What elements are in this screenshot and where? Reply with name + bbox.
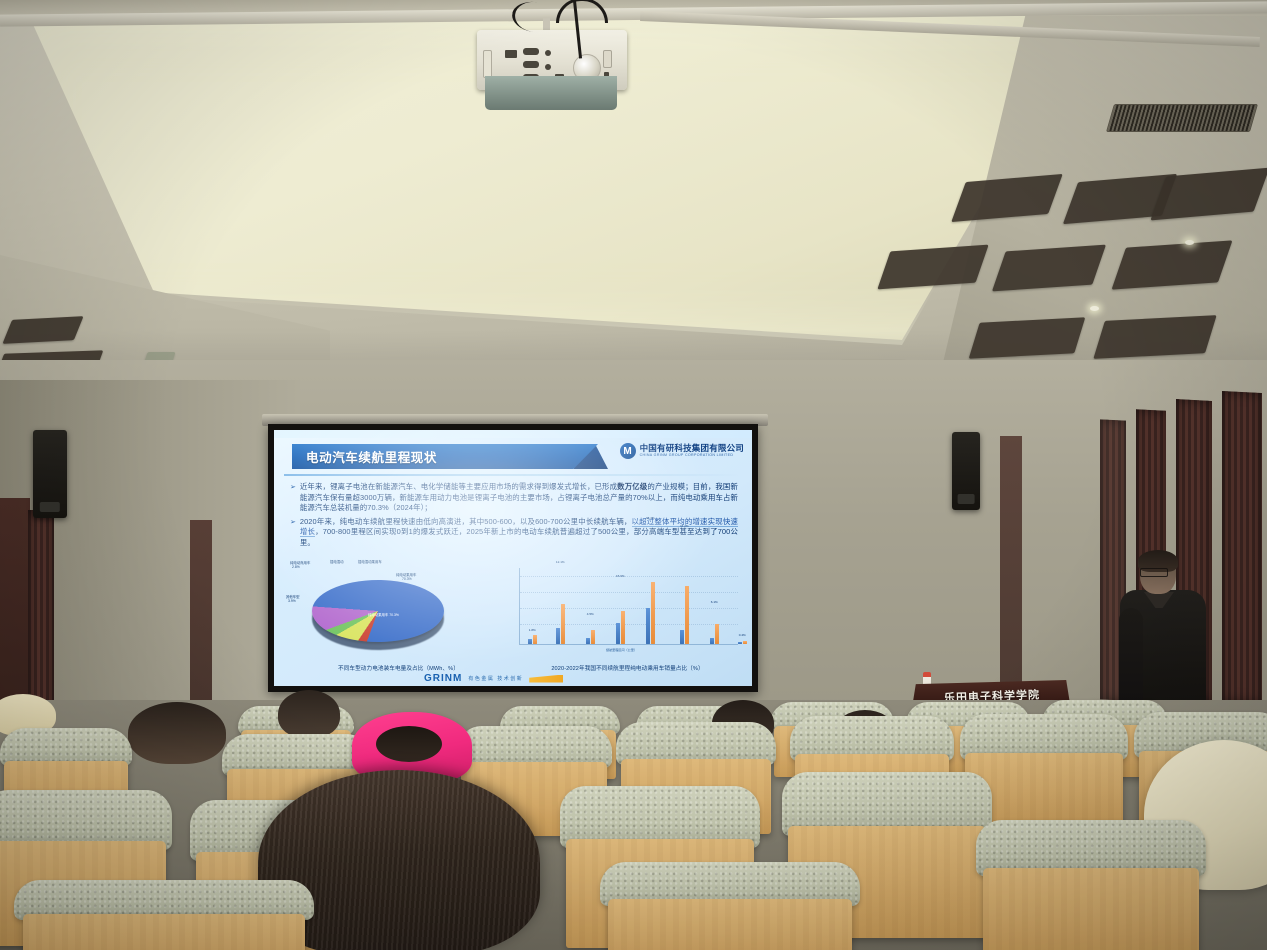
bar-group: 12.1% <box>556 604 565 644</box>
ceiling-acoustic-tile <box>1112 240 1233 289</box>
ceiling-downlight <box>1185 240 1194 245</box>
bullet-item: ➢ 2020年来，纯电动车续航里程快速由低向高演进，其中500-600，以及60… <box>290 517 738 549</box>
seat-back-panel <box>23 914 305 950</box>
bar-series-1 <box>738 642 742 644</box>
bar-series-2 <box>685 586 689 644</box>
bar-series-2 <box>591 630 595 644</box>
ceiling-acoustic-tile <box>2 316 83 344</box>
pie-legend-label: 2.8% <box>292 565 300 569</box>
wall-speaker <box>33 430 67 518</box>
bar-group: 1.8% <box>528 635 537 644</box>
company-name-cn: 中国有研科技集团有限公司 <box>640 444 744 453</box>
bullet-text-part: 近年来，锂离子电池在新能源汽车、电化学储能等主要应用市场的需求得到爆发式增长，已… <box>300 482 617 491</box>
bar-group: 0.4% <box>738 641 747 644</box>
bullet-item: ➢ 近年来，锂离子电池在新能源汽车、电化学储能等主要应用市场的需求得到爆发式增长… <box>290 482 738 514</box>
bullet-text-part: ，700-800里程区间实现0到1的爆发式跃迁，2025年新上市的电动车续航普遍… <box>300 527 738 547</box>
wall-acoustic-slat-panel <box>1222 391 1262 703</box>
bar-series-2 <box>715 624 719 644</box>
lecture-hall-photo: 电动汽车续航里程现状 M 中国有研科技集团有限公司 CHINA GRINM GR… <box>0 0 1267 950</box>
ceiling-acoustic-tile <box>877 245 988 290</box>
wall-wood-panel <box>190 520 212 700</box>
bar-series-1 <box>680 630 684 644</box>
presenter-glasses <box>1140 568 1168 577</box>
wall-acoustic-slat-panel <box>28 510 54 715</box>
gridline <box>520 592 738 593</box>
projector-port <box>505 50 517 58</box>
slide-title: 电动汽车续航里程现状 <box>306 447 437 466</box>
title-divider <box>284 474 742 476</box>
gridline <box>520 624 738 625</box>
bar-series-1 <box>646 608 650 644</box>
bar-series-1 <box>616 623 620 644</box>
ceiling-acoustic-tile <box>969 317 1086 358</box>
bullet-text-part: 2020年来，纯电动车续航里程快速由低向高演进，其中500-600，以及600-… <box>300 517 632 526</box>
bar-value-label: 6.1% <box>711 600 718 604</box>
audience-head <box>128 702 226 764</box>
pie-chart: 纯电动商用车 2.8% 插电混动 插电混动乘用车 纯电动乘用车 70.3% 其他… <box>284 558 513 658</box>
seat-back-panel <box>608 899 852 950</box>
footer-tagline: 有色金属 技术创新 <box>468 675 523 682</box>
company-logo: M 中国有研科技集团有限公司 CHINA GRINM GROUP CORPORA… <box>620 443 744 459</box>
projector-port <box>523 48 539 55</box>
seat-back-panel <box>983 868 1199 950</box>
bar-series-2 <box>743 641 747 644</box>
projector-lens-housing <box>485 76 617 110</box>
bar-group: 15.6% <box>616 611 625 644</box>
bar-series-1 <box>586 638 590 644</box>
bar-chart-plot: 1.8% 12.1% 4.5% 15.6 <box>519 568 738 645</box>
bar-group: 44.2% <box>680 586 689 644</box>
bullet-marker: ➢ <box>290 482 296 514</box>
seat <box>976 820 1206 950</box>
bar-series-1 <box>710 638 714 644</box>
bar-series-2 <box>651 582 655 644</box>
projector-port <box>483 50 492 78</box>
air-vent-grille <box>1106 104 1258 132</box>
pie-legend-label: 插电混动 <box>330 559 344 564</box>
presentation-slide: 电动汽车续航里程现状 M 中国有研科技集团有限公司 CHINA GRINM GR… <box>274 430 752 686</box>
bar-value-label: 0.4% <box>739 633 746 637</box>
bullet-marker: ➢ <box>290 517 296 549</box>
ceiling-acoustic-tile <box>1093 315 1216 359</box>
wall-wood-panel <box>1000 436 1022 686</box>
bar-series-1 <box>556 628 560 644</box>
bar-series-2 <box>533 635 537 644</box>
slide-charts: 纯电动商用车 2.8% 插电混动 插电混动乘用车 纯电动乘用车 70.3% 其他… <box>284 558 742 658</box>
bar-value-label: 12.1% <box>556 560 565 564</box>
wall-speaker <box>952 432 980 510</box>
slide-title-ribbon: 电动汽车续航里程现状 <box>292 444 598 469</box>
projector-port <box>545 64 551 70</box>
bar-value-label: 44.2% <box>680 524 689 528</box>
bar-group: 6.1% <box>710 624 719 644</box>
bar-series-2 <box>621 611 625 644</box>
pie-slice-label: 纯电动乘用车 70.3% <box>368 612 399 617</box>
slide-top-band <box>274 430 752 438</box>
bar-value-label: 1.8% <box>529 628 536 632</box>
ceiling-downlight <box>1090 306 1099 311</box>
projector-port <box>523 61 539 68</box>
audience-pink-hood-opening <box>376 726 442 762</box>
company-name-en: CHINA GRINM GROUP CORPORATION LIMITED <box>640 454 744 458</box>
bar-group: 38.4% <box>646 582 655 644</box>
bar-value-label: 4.5% <box>587 612 594 616</box>
pie-slices <box>312 580 444 642</box>
audience-head <box>278 690 340 738</box>
bullet-text-emph: 数万亿级 <box>617 482 647 491</box>
bar-axis-title: 续航里程区间（公里） <box>606 647 637 652</box>
pie-graphic: 纯电动乘用车 70.3% <box>312 574 444 652</box>
gridline <box>520 608 738 609</box>
ceiling-acoustic-tile <box>992 245 1106 292</box>
bar-series-1 <box>528 639 532 644</box>
bullet-text: 近年来，锂离子电池在新能源汽车、电化学储能等主要应用市场的需求得到爆发式增长，已… <box>300 482 738 514</box>
pie-legend-label: 3.9% <box>288 599 296 603</box>
bar-group: 4.5% <box>586 630 595 644</box>
slide-bullet-list: ➢ 近年来，锂离子电池在新能源汽车、电化学储能等主要应用市场的需求得到爆发式增长… <box>290 482 738 552</box>
pie-legend-label: 插电混动乘用车 <box>358 559 382 564</box>
gridline <box>520 576 738 577</box>
seat <box>600 862 860 950</box>
projector-port <box>603 50 612 68</box>
footer-swoosh-graphic <box>529 675 563 683</box>
grinm-wordmark: GRINM <box>424 673 462 684</box>
grinm-logo-mark: M <box>620 443 636 459</box>
bar-value-label: 15.6% <box>616 574 625 578</box>
bar-series-2 <box>561 604 565 644</box>
slide-footer-logo: GRINM 有色金属 技术创新 <box>424 673 563 684</box>
ceiling-projector <box>477 18 627 108</box>
projector-port <box>545 50 551 56</box>
company-name-block: 中国有研科技集团有限公司 CHINA GRINM GROUP CORPORATI… <box>640 444 744 458</box>
bullet-text: 2020年来，纯电动车续航里程快速由低向高演进，其中500-600，以及600-… <box>300 517 738 549</box>
bar-chart: 1.8% 12.1% 4.5% 15.6 <box>513 558 742 658</box>
seat <box>14 880 314 950</box>
bar-chart-caption: 2020-2022年我国不同续航里程纯电动乘用车销量占比（%） <box>513 664 742 672</box>
bar-value-label: 38.4% <box>646 516 655 520</box>
pie-chart-caption: 不同车型动力电池装车电量及占比（MWh、%） <box>284 664 513 672</box>
